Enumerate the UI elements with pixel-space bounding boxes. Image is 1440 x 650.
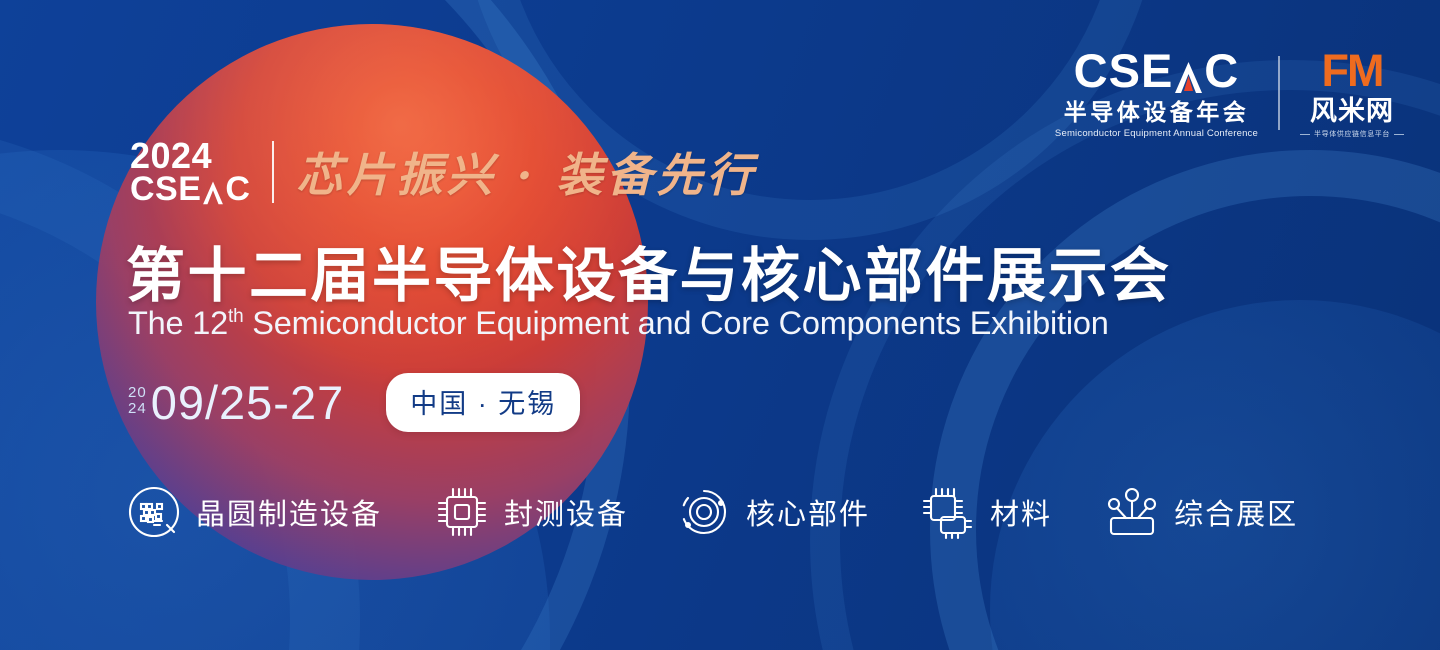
category-item[interactable]: 核心部件 <box>676 484 870 540</box>
fengmi-fm-mark: FM <box>1322 48 1383 93</box>
slogan-vertical-divider <box>272 141 274 203</box>
category-item[interactable]: 材料 <box>920 484 1052 540</box>
fengmi-subtitle: 半导体供应链信息平台 <box>1314 131 1390 138</box>
cseac-brand-small: CSE C <box>130 173 250 205</box>
category-label: 核心部件 <box>746 491 870 533</box>
category-label: 材料 <box>990 491 1052 533</box>
logo-divider <box>1278 56 1280 130</box>
headline-english-ordinal: th <box>228 306 243 327</box>
event-date: 20 24 09/25-27 <box>128 375 344 430</box>
cseac-triangle-a-icon <box>1173 60 1204 94</box>
cseac-wordmark: CSE C <box>1074 47 1240 94</box>
event-year-stacked: 20 24 <box>128 385 147 421</box>
cseac-brand-part2: C <box>225 173 250 205</box>
logo-lockup[interactable]: CSE C 半导体设备年会 Semiconductor Equipment An… <box>1055 47 1404 139</box>
fengmi-subtitle-dash-right <box>1394 134 1404 135</box>
event-year-bottom: 24 <box>128 401 147 417</box>
event-banner: CSE C 半导体设备年会 Semiconductor Equipment An… <box>0 0 1440 650</box>
cseac-chinese-name: 半导体设备年会 <box>1064 101 1250 124</box>
category-item[interactable]: 封测设备 <box>434 484 628 540</box>
category-row: 晶圆制造设备 封测设备 <box>126 484 1298 540</box>
chip-package-icon <box>434 484 490 540</box>
fengmi-subtitle-dash-left <box>1300 134 1310 135</box>
event-date-range: 09/25-27 <box>151 375 345 430</box>
event-year-top: 20 <box>128 385 147 401</box>
wafer-icon <box>126 484 182 540</box>
category-item[interactable]: 晶圆制造设备 <box>126 484 382 540</box>
date-location-row: 20 24 09/25-27 中国 · 无锡 <box>128 373 580 432</box>
materials-icon <box>920 484 976 540</box>
cseac-year: 2024 <box>130 139 250 173</box>
headline-english-rest: Semiconductor Equipment and Core Compone… <box>243 305 1108 341</box>
cseac-small-triangle-a-icon <box>201 180 225 205</box>
event-location-badge: 中国 · 无锡 <box>386 373 580 432</box>
cseac-wordmark-part2: C <box>1204 47 1239 94</box>
category-item[interactable]: 综合展区 <box>1104 484 1298 540</box>
comprehensive-zone-icon <box>1104 484 1160 540</box>
headline-english-prefix: The 12 <box>128 305 228 341</box>
fengmi-chinese-name: 风米网 <box>1310 98 1394 125</box>
category-label: 晶圆制造设备 <box>196 491 382 533</box>
category-label: 综合展区 <box>1174 491 1298 533</box>
cseac-english-name: Semiconductor Equipment Annual Conferenc… <box>1055 129 1258 139</box>
cseac-year-badge: 2024 CSE C <box>130 139 250 205</box>
fengmi-logo[interactable]: FM 风米网 半导体供应链信息平台 <box>1300 48 1404 138</box>
cseac-logo[interactable]: CSE C 半导体设备年会 Semiconductor Equipment An… <box>1055 47 1258 139</box>
cseac-wordmark-part1: CSE <box>1074 47 1174 94</box>
headline-chinese: 第十二届半导体设备与核心部件展示会 <box>126 228 1172 313</box>
cseac-brand-part1: CSE <box>130 173 201 205</box>
core-component-icon <box>676 484 732 540</box>
slogan-row: 2024 CSE C 芯片振兴 · 装备先行 <box>130 139 757 205</box>
fengmi-subtitle-wrap: 半导体供应链信息平台 <box>1300 131 1404 138</box>
category-label: 封测设备 <box>504 491 628 533</box>
slogan-calligraphy: 芯片振兴 · 装备先行 <box>296 139 756 205</box>
headline-english: The 12th Semiconductor Equipment and Cor… <box>128 305 1109 342</box>
banner-content: CSE C 半导体设备年会 Semiconductor Equipment An… <box>0 0 1440 650</box>
